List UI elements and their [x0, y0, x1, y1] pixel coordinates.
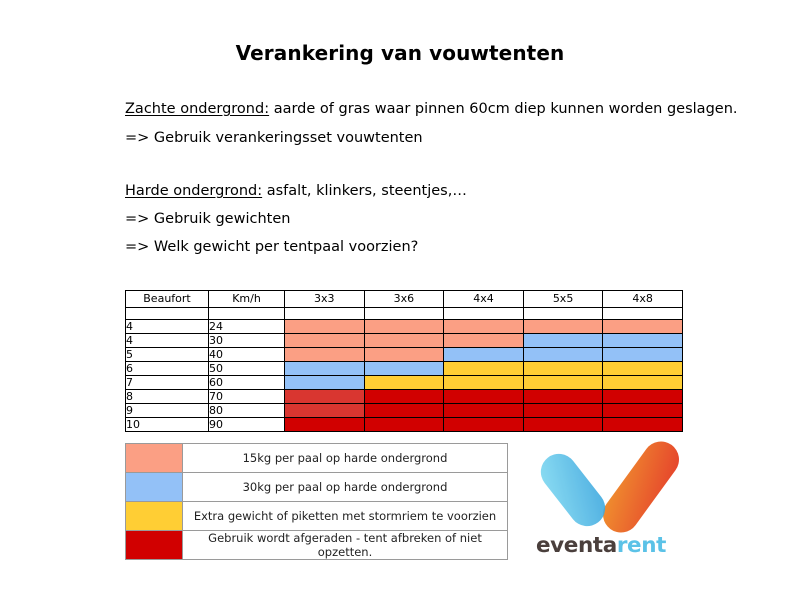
- legend-row: 30kg per paal op harde ondergrond: [126, 473, 508, 502]
- logo-wordmark: eventarent: [521, 533, 681, 558]
- cell-beaufort: 4: [126, 320, 209, 334]
- cell-rating-4x8: [603, 390, 683, 404]
- cell-beaufort: 10: [126, 418, 209, 432]
- table-spacer-row: [126, 308, 683, 320]
- cell-rating-3x6: [364, 404, 444, 418]
- table-header: BeaufortKm/h3x33x64x45x54x8: [126, 291, 683, 308]
- table-row: 870: [126, 390, 683, 404]
- cell-rating-3x6: [364, 376, 444, 390]
- legend-row: Extra gewicht of piketten met stormriem …: [126, 502, 508, 531]
- wind-weight-table: BeaufortKm/h3x33x64x45x54x8 424430540650…: [125, 290, 683, 432]
- cell-rating-4x4: [444, 376, 524, 390]
- logo-wordmark-eventa: eventa: [536, 533, 617, 558]
- paragraph-hard-ground-action-1: => Gebruik gewichten: [125, 211, 290, 227]
- legend-swatch-salmon: [126, 444, 183, 473]
- cell-rating-3x3: [285, 348, 365, 362]
- spacer-cell: [603, 308, 683, 320]
- cell-rating-3x6: [364, 320, 444, 334]
- table-header-cell-beaufort: Beaufort: [126, 291, 209, 308]
- cell-kmh: 80: [209, 404, 285, 418]
- spacer-cell: [523, 308, 603, 320]
- paragraph-hard-ground: Harde ondergrond: asfalt, klinkers, stee…: [125, 183, 467, 199]
- cell-beaufort: 9: [126, 404, 209, 418]
- eventarent-logo: eventarent: [521, 441, 681, 566]
- soft-ground-lead: Zachte ondergrond:: [125, 101, 269, 117]
- cell-rating-5x5: [523, 418, 603, 432]
- cell-rating-4x8: [603, 404, 683, 418]
- logo-wordmark-rent: rent: [617, 533, 666, 558]
- cell-rating-4x4: [444, 334, 524, 348]
- hard-ground-rest: asfalt, klinkers, steentjes,…: [262, 183, 467, 199]
- cell-rating-3x6: [364, 334, 444, 348]
- legend-label: 30kg per paal op harde ondergrond: [183, 473, 508, 502]
- cell-rating-4x4: [444, 404, 524, 418]
- cell-rating-5x5: [523, 348, 603, 362]
- cell-kmh: 24: [209, 320, 285, 334]
- logo-blue-capsule: [534, 447, 613, 533]
- cell-rating-4x8: [603, 348, 683, 362]
- cell-kmh: 40: [209, 348, 285, 362]
- table-header-cell-3x3: 3x3: [285, 291, 365, 308]
- spacer-cell: [364, 308, 444, 320]
- cell-rating-4x8: [603, 418, 683, 432]
- table-row: 1090: [126, 418, 683, 432]
- paragraph-hard-ground-action-2: => Welk gewicht per tentpaal voorzien?: [125, 239, 418, 255]
- cell-rating-3x3: [285, 376, 365, 390]
- cell-rating-4x4: [444, 362, 524, 376]
- cell-rating-5x5: [523, 320, 603, 334]
- table-row: 760: [126, 376, 683, 390]
- table-row: 980: [126, 404, 683, 418]
- cell-rating-5x5: [523, 376, 603, 390]
- logo-orange-capsule: [596, 441, 679, 533]
- legend-swatch-yellow: [126, 502, 183, 531]
- cell-rating-3x3: [285, 404, 365, 418]
- spacer-cell: [209, 308, 285, 320]
- table-row: 424: [126, 320, 683, 334]
- cell-rating-5x5: [523, 404, 603, 418]
- cell-rating-3x3: [285, 334, 365, 348]
- table-row: 430: [126, 334, 683, 348]
- cell-beaufort: 4: [126, 334, 209, 348]
- legend-table: 15kg per paal op harde ondergrond30kg pe…: [125, 443, 508, 560]
- cell-rating-4x4: [444, 390, 524, 404]
- cell-beaufort: 8: [126, 390, 209, 404]
- table-header-cell-4x4: 4x4: [444, 291, 524, 308]
- table-header-cell-3x6: 3x6: [364, 291, 444, 308]
- cell-kmh: 90: [209, 418, 285, 432]
- table-header-row: BeaufortKm/h3x33x64x45x54x8: [126, 291, 683, 308]
- cell-rating-3x6: [364, 390, 444, 404]
- cell-kmh: 60: [209, 376, 285, 390]
- table-body: 4244305406507608709801090: [126, 308, 683, 432]
- table-header-cell-5x5: 5x5: [523, 291, 603, 308]
- cell-kmh: 50: [209, 362, 285, 376]
- cell-rating-3x6: [364, 418, 444, 432]
- cell-kmh: 30: [209, 334, 285, 348]
- cell-rating-3x3: [285, 390, 365, 404]
- spacer-cell: [444, 308, 524, 320]
- legend-label: Gebruik wordt afgeraden - tent afbreken …: [183, 531, 508, 560]
- table-header-cell-km-h: Km/h: [209, 291, 285, 308]
- cell-rating-3x3: [285, 418, 365, 432]
- table-row: 650: [126, 362, 683, 376]
- cell-rating-3x3: [285, 362, 365, 376]
- legend-swatch-red: [126, 531, 183, 560]
- legend-swatch-blue: [126, 473, 183, 502]
- page-title: Verankering van vouwtenten: [0, 41, 800, 65]
- cell-rating-4x8: [603, 334, 683, 348]
- legend-row: 15kg per paal op harde ondergrond: [126, 444, 508, 473]
- cell-rating-3x6: [364, 348, 444, 362]
- cell-rating-5x5: [523, 390, 603, 404]
- soft-ground-rest: aarde of gras waar pinnen 60cm diep kunn…: [269, 101, 737, 117]
- table-header-cell-4x8: 4x8: [603, 291, 683, 308]
- legend-label: Extra gewicht of piketten met stormriem …: [183, 502, 508, 531]
- spacer-cell: [126, 308, 209, 320]
- legend-row: Gebruik wordt afgeraden - tent afbreken …: [126, 531, 508, 560]
- cell-rating-4x8: [603, 320, 683, 334]
- paragraph-soft-ground-action: => Gebruik verankeringsset vouwtenten: [125, 130, 423, 146]
- cell-rating-4x4: [444, 348, 524, 362]
- hard-ground-lead: Harde ondergrond:: [125, 183, 262, 199]
- logo-checkmark-icon: [529, 441, 679, 533]
- cell-rating-5x5: [523, 362, 603, 376]
- cell-rating-4x4: [444, 320, 524, 334]
- cell-beaufort: 6: [126, 362, 209, 376]
- cell-rating-4x8: [603, 362, 683, 376]
- spacer-cell: [285, 308, 365, 320]
- cell-rating-4x4: [444, 418, 524, 432]
- paragraph-soft-ground: Zachte ondergrond: aarde of gras waar pi…: [125, 101, 738, 117]
- cell-rating-5x5: [523, 334, 603, 348]
- cell-beaufort: 5: [126, 348, 209, 362]
- cell-kmh: 70: [209, 390, 285, 404]
- legend-body: 15kg per paal op harde ondergrond30kg pe…: [126, 444, 508, 560]
- cell-beaufort: 7: [126, 376, 209, 390]
- cell-rating-3x3: [285, 320, 365, 334]
- legend-label: 15kg per paal op harde ondergrond: [183, 444, 508, 473]
- cell-rating-3x6: [364, 362, 444, 376]
- table-row: 540: [126, 348, 683, 362]
- cell-rating-4x8: [603, 376, 683, 390]
